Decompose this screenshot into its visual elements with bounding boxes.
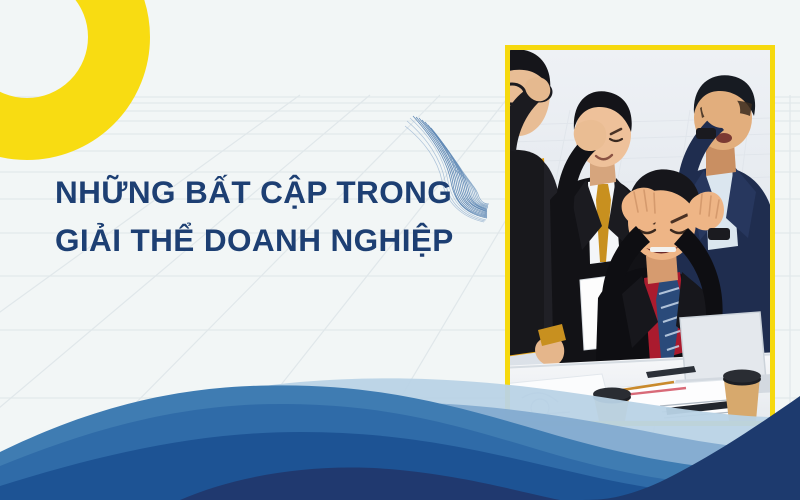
- yellow-ring-decoration: [0, 0, 150, 160]
- stressed-businessmen-illustration: [510, 50, 770, 421]
- banner: NHỮNG BẤT CẬP TRONG GIẢI THỂ DOANH NGHIỆ…: [0, 0, 800, 500]
- headline-line-1: NHỮNG BẤT CẬP TRONG: [55, 168, 475, 216]
- page-title: NHỮNG BẤT CẬP TRONG GIẢI THỂ DOANH NGHIỆ…: [55, 168, 475, 264]
- photo-card: [505, 45, 775, 426]
- coffee-cup-front: [593, 388, 631, 422]
- headline-line-2: GIẢI THỂ DOANH NGHIỆP: [55, 216, 475, 264]
- photo-image: [510, 50, 770, 421]
- coffee-cup-right: [723, 370, 761, 422]
